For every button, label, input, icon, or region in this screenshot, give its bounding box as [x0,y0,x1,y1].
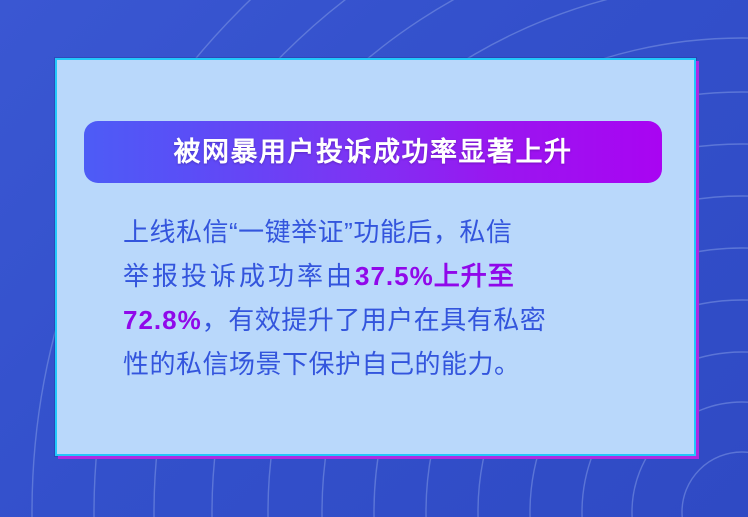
stat-before-highlight: 37.5%上升至 [355,261,515,291]
content-card: 被网暴用户投诉成功率显著上升 上线私信“一键举证”功能后，私信 举报投诉成功率由… [55,58,696,456]
body-line-1: 上线私信“一键举证”功能后，私信 [123,210,635,254]
body-line-1-text: 上线私信“一键举证”功能后，私信 [123,217,512,247]
page-title: 被网暴用户投诉成功率显著上升 [174,139,573,166]
body-line-3: 72.8%，有效提升了用户在具有私密 [123,298,635,342]
body-line-2: 举报投诉成功率由37.5%上升至 [123,254,635,298]
body-line-2-text: 举报投诉成功率由 [123,261,355,291]
body-line-3-text: ，有效提升了用户在具有私密 [202,305,547,335]
infographic-slide: 被网暴用户投诉成功率显著上升 上线私信“一键举证”功能后，私信 举报投诉成功率由… [0,0,748,517]
title-banner: 被网暴用户投诉成功率显著上升 [84,121,662,183]
body-line-4: 性的私信场景下保护自己的能力。 [123,342,635,386]
body-paragraph: 上线私信“一键举证”功能后，私信 举报投诉成功率由37.5%上升至 72.8%，… [123,210,635,386]
stat-after-highlight: 72.8% [123,305,202,335]
body-line-4-text: 性的私信场景下保护自己的能力。 [123,349,521,379]
